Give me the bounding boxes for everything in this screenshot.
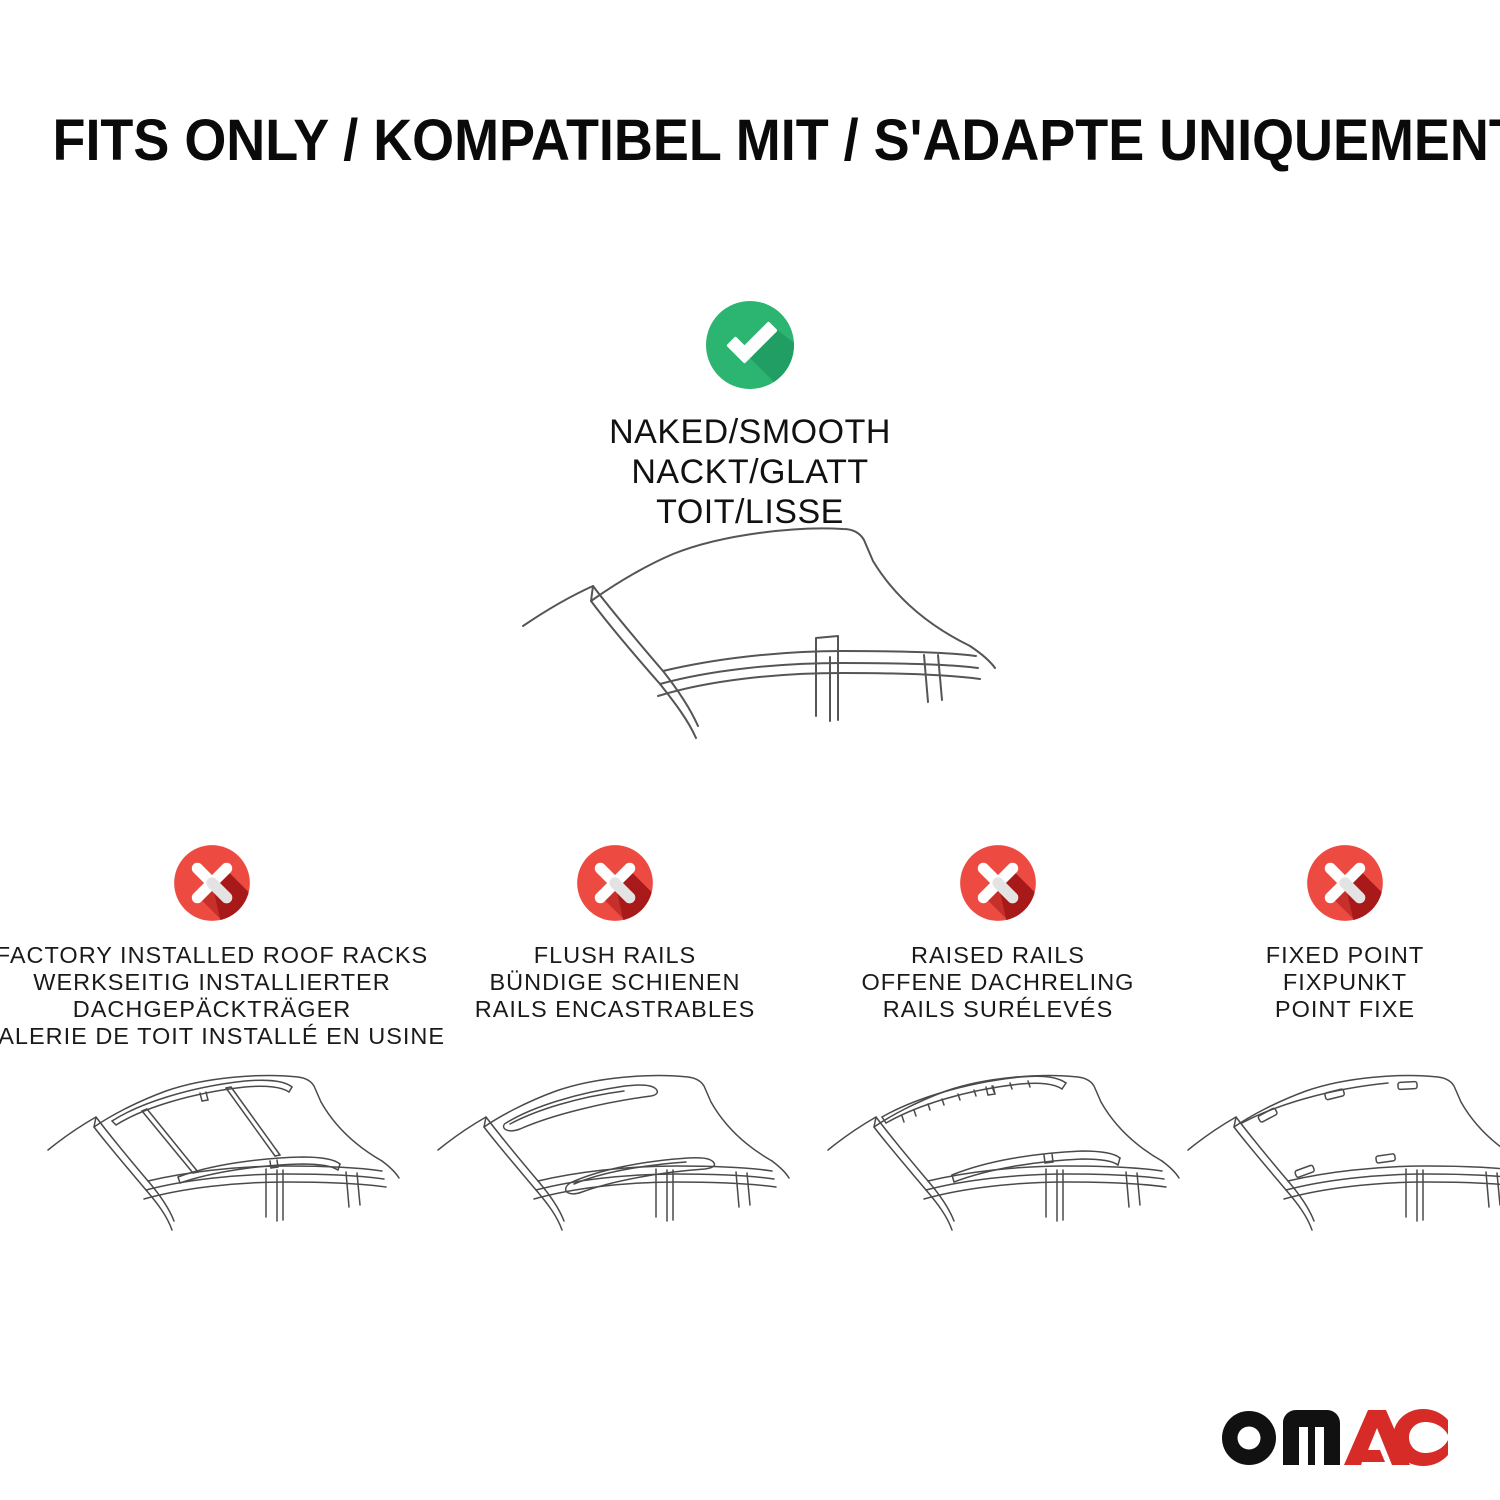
- incompatible-labels: RAISED RAILS OFFENE DACHRELING RAILS SUR…: [862, 942, 1135, 1023]
- compatible-roof-type-labels: NAKED/SMOOTH NACKT/GLATT TOIT/LISSE: [609, 412, 891, 532]
- car-roof-naked-smooth-illustration: [498, 516, 1038, 816]
- cross-circle-icon: [1302, 840, 1388, 926]
- incompatible-label-de: OFFENE DACHRELING: [862, 969, 1135, 996]
- omac-logo: [1216, 1404, 1448, 1468]
- incompatible-label-fr: GALERIE DE TOIT INSTALLÉ EN USINE: [0, 1023, 445, 1050]
- compatible-label-en: NAKED/SMOOTH: [609, 412, 891, 452]
- incompatible-label-de-1: WERKSEITIG INSTALLIERTER: [0, 969, 445, 996]
- compatible-roof-type-block: NAKED/SMOOTH NACKT/GLATT TOIT/LISSE: [0, 295, 1500, 532]
- incompatible-label-en: RAISED RAILS: [862, 942, 1135, 969]
- car-roof-raised-rails-illustration: [810, 1055, 1210, 1285]
- car-roof-factory-roof-racks-illustration: [30, 1055, 430, 1285]
- incompatible-label-en: FACTORY INSTALLED ROOF RACKS: [0, 942, 445, 969]
- incompatible-label-de-2: DACHGEPÄCKTRÄGER: [0, 996, 445, 1023]
- incompatible-roof-type-flush-rails: FLUSH RAILS BÜNDIGE SCHIENEN RAILS ENCAS…: [424, 840, 806, 1023]
- incompatible-label-en: FIXED POINT: [1266, 942, 1425, 969]
- incompatible-roof-type-raised-rails: RAISED RAILS OFFENE DACHRELING RAILS SUR…: [806, 840, 1190, 1023]
- car-roof-flush-rails-illustration: [420, 1055, 820, 1285]
- incompatible-label-fr: RAILS ENCASTRABLES: [475, 996, 756, 1023]
- incompatible-roof-type-factory-roof-racks: FACTORY INSTALLED ROOF RACKS WERKSEITIG …: [0, 840, 424, 1050]
- incompatible-roof-type-fixed-point: FIXED POINT FIXPUNKT POINT FIXE: [1190, 840, 1500, 1023]
- incompatible-labels: FIXED POINT FIXPUNKT POINT FIXE: [1266, 942, 1425, 1023]
- incompatible-label-fr: RAILS SURÉLEVÉS: [862, 996, 1135, 1023]
- cross-circle-icon: [955, 840, 1041, 926]
- cross-circle-icon: [572, 840, 658, 926]
- car-roof-fixed-point-illustration: [1170, 1055, 1500, 1285]
- logo-letter-o: [1222, 1411, 1276, 1465]
- check-circle-icon: [700, 295, 800, 395]
- incompatible-labels: FLUSH RAILS BÜNDIGE SCHIENEN RAILS ENCAS…: [475, 942, 756, 1023]
- page-title: FITS ONLY / KOMPATIBEL MIT / S'ADAPTE UN…: [53, 108, 1448, 174]
- compatible-label-de: NACKT/GLATT: [609, 452, 891, 492]
- logo-letter-m: [1283, 1410, 1340, 1465]
- incompatible-label-fr: POINT FIXE: [1266, 996, 1425, 1023]
- cross-circle-icon: [169, 840, 255, 926]
- incompatible-label-de: FIXPUNKT: [1266, 969, 1425, 996]
- incompatible-label-de: BÜNDIGE SCHIENEN: [475, 969, 756, 996]
- incompatible-label-en: FLUSH RAILS: [475, 942, 756, 969]
- incompatible-labels: FACTORY INSTALLED ROOF RACKS WERKSEITIG …: [0, 942, 445, 1050]
